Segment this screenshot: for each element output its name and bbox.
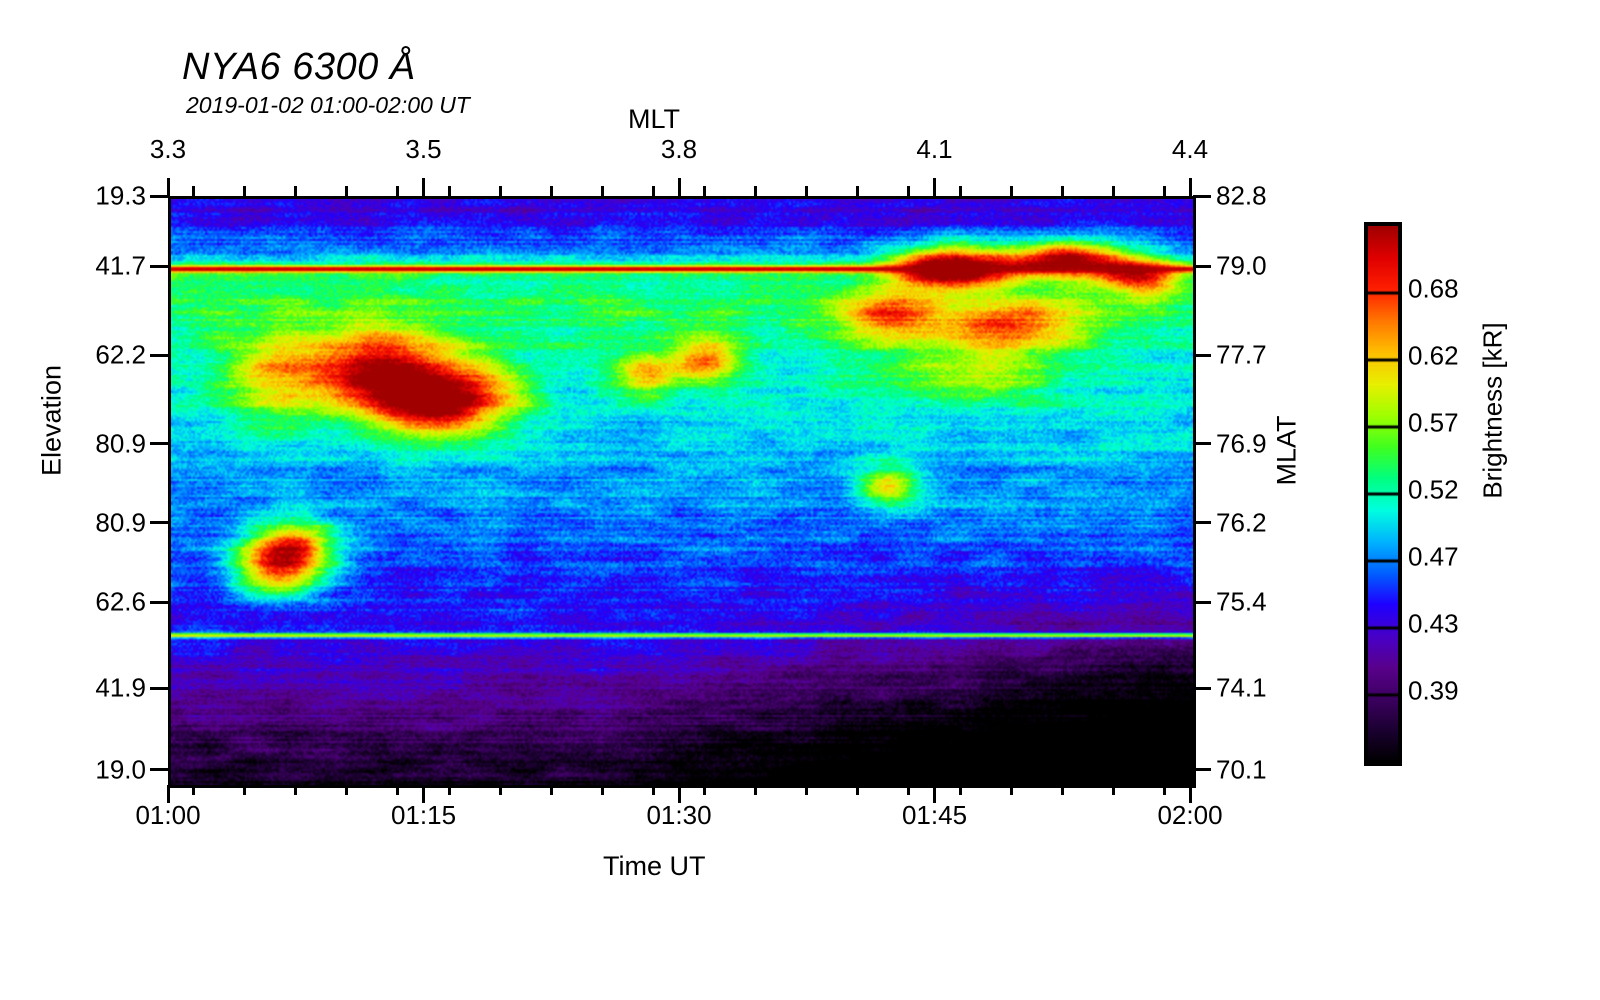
mlt-minor-tick-1 (243, 186, 246, 196)
time-minor-tick-18 (1112, 785, 1115, 795)
colorbar-tick-label-5: 0.43 (1408, 609, 1459, 640)
time-tick-mark-3 (933, 785, 936, 803)
colorbar-tick-label-2: 0.57 (1408, 408, 1459, 439)
mlt-tick-label-0: 3.3 (150, 134, 186, 165)
time-minor-tick-3 (345, 785, 348, 795)
time-minor-tick-1 (243, 785, 246, 795)
time-minor-tick-0 (192, 785, 195, 795)
time-tick-mark-0 (167, 785, 170, 803)
keogram-image (171, 199, 1193, 785)
elevation-tick-mark-4 (150, 521, 168, 524)
mlat-tick-label-4: 76.2 (1216, 507, 1306, 538)
time-minor-tick-4 (396, 785, 399, 795)
elevation-tick-mark-3 (150, 442, 168, 445)
time-minor-tick-13 (856, 785, 859, 795)
elevation-tick-label-6: 41.9 (76, 673, 146, 704)
mlat-tick-label-1: 79.0 (1216, 251, 1306, 282)
time-tick-label-2: 01:30 (646, 800, 711, 831)
elevation-tick-label-3: 80.9 (76, 428, 146, 459)
mlt-minor-tick-17 (1061, 186, 1064, 196)
time-minor-tick-5 (448, 785, 451, 795)
mlt-axis-label: MLT (628, 104, 680, 135)
elevation-tick-mark-0 (150, 195, 168, 198)
time-minor-tick-7 (550, 785, 553, 795)
mlt-minor-tick-14 (907, 186, 910, 196)
mlat-tick-mark-4 (1193, 521, 1211, 524)
mlat-tick-mark-6 (1193, 687, 1211, 690)
time-minor-tick-11 (754, 785, 757, 795)
mlt-minor-tick-3 (345, 186, 348, 196)
mlat-tick-label-7: 70.1 (1216, 754, 1306, 785)
time-tick-label-3: 01:45 (902, 800, 967, 831)
mlt-minor-tick-2 (294, 186, 297, 196)
elevation-tick-label-4: 80.9 (76, 507, 146, 538)
mlat-tick-mark-3 (1193, 442, 1211, 445)
mlt-tick-mark-3 (933, 178, 936, 196)
time-minor-tick-10 (703, 785, 706, 795)
mlt-minor-tick-10 (703, 186, 706, 196)
mlt-minor-tick-8 (601, 186, 604, 196)
elevation-tick-mark-6 (150, 687, 168, 690)
elevation-tick-mark-7 (150, 768, 168, 771)
time-minor-tick-12 (805, 785, 808, 795)
mlt-minor-tick-15 (959, 186, 962, 196)
mlat-tick-label-3: 76.9 (1216, 428, 1306, 459)
mlt-minor-tick-6 (499, 186, 502, 196)
mlt-minor-tick-11 (754, 186, 757, 196)
mlat-tick-label-5: 75.4 (1216, 587, 1306, 618)
time-axis-label: Time UT (603, 851, 706, 882)
mlt-minor-tick-18 (1112, 186, 1115, 196)
mlat-tick-label-6: 74.1 (1216, 673, 1306, 704)
time-minor-tick-6 (499, 785, 502, 795)
page-title: NYA6 6300 Å (182, 46, 416, 89)
time-tick-label-4: 02:00 (1157, 800, 1222, 831)
mlt-minor-tick-13 (856, 186, 859, 196)
elevation-tick-label-5: 62.6 (76, 587, 146, 618)
mlt-tick-label-1: 3.5 (405, 134, 441, 165)
time-minor-tick-14 (907, 785, 910, 795)
colorbar-axis-label: Brightness [kR] (1478, 296, 1509, 526)
mlat-tick-label-2: 77.7 (1216, 340, 1306, 371)
mlat-tick-mark-1 (1193, 265, 1211, 268)
mlat-tick-mark-2 (1193, 354, 1211, 357)
keogram-plot-area (168, 196, 1196, 788)
time-tick-mark-4 (1189, 785, 1192, 803)
elevation-tick-label-0: 19.3 (76, 181, 146, 212)
mlt-tick-label-3: 4.1 (916, 134, 952, 165)
mlt-tick-mark-4 (1189, 178, 1192, 196)
colorbar-tick-label-6: 0.39 (1408, 676, 1459, 707)
elevation-tick-label-1: 41.7 (76, 251, 146, 282)
time-tick-label-1: 01:15 (391, 800, 456, 831)
elevation-tick-label-2: 62.2 (76, 340, 146, 371)
elevation-tick-label-7: 19.0 (76, 754, 146, 785)
mlat-tick-label-0: 82.8 (1216, 181, 1306, 212)
mlat-tick-mark-7 (1193, 768, 1211, 771)
mlt-minor-tick-19 (1163, 186, 1166, 196)
page-subtitle: 2019-01-02 01:00-02:00 UT (186, 92, 470, 119)
time-minor-tick-8 (601, 785, 604, 795)
mlt-minor-tick-9 (652, 186, 655, 196)
mlt-tick-mark-1 (422, 178, 425, 196)
mlt-tick-label-4: 4.4 (1172, 134, 1208, 165)
elevation-axis-label: Elevation (37, 331, 68, 511)
time-minor-tick-2 (294, 785, 297, 795)
time-minor-tick-19 (1163, 785, 1166, 795)
mlt-tick-mark-0 (167, 178, 170, 196)
mlt-minor-tick-5 (448, 186, 451, 196)
time-minor-tick-16 (1010, 785, 1013, 795)
mlt-minor-tick-7 (550, 186, 553, 196)
mlt-tick-mark-2 (678, 178, 681, 196)
colorbar (1364, 222, 1402, 766)
mlat-tick-mark-0 (1193, 195, 1211, 198)
mlt-minor-tick-0 (192, 186, 195, 196)
elevation-tick-mark-1 (150, 265, 168, 268)
time-tick-label-0: 01:00 (135, 800, 200, 831)
colorbar-tick-label-1: 0.62 (1408, 341, 1459, 372)
colorbar-tick-label-0: 0.68 (1408, 274, 1459, 305)
colorbar-gradient (1368, 226, 1398, 762)
mlt-tick-label-2: 3.8 (661, 134, 697, 165)
time-minor-tick-17 (1061, 785, 1064, 795)
time-minor-tick-9 (652, 785, 655, 795)
mlat-tick-mark-5 (1193, 601, 1211, 604)
colorbar-tick-label-4: 0.47 (1408, 542, 1459, 573)
mlt-minor-tick-4 (396, 186, 399, 196)
mlt-minor-tick-12 (805, 186, 808, 196)
time-tick-mark-1 (422, 785, 425, 803)
elevation-tick-mark-2 (150, 354, 168, 357)
elevation-tick-mark-5 (150, 601, 168, 604)
time-minor-tick-15 (959, 785, 962, 795)
mlt-minor-tick-16 (1010, 186, 1013, 196)
colorbar-tick-label-3: 0.52 (1408, 475, 1459, 506)
time-tick-mark-2 (678, 785, 681, 803)
